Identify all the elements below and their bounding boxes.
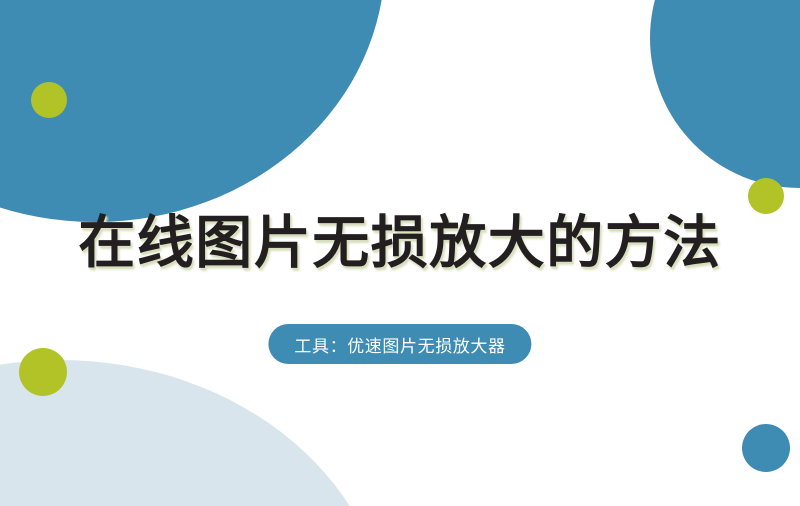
- tool-badge: 工具：优速图片无损放大器: [268, 324, 531, 364]
- slide-content: 在线图片无损放大的方法 工具：优速图片无损放大器: [0, 0, 800, 506]
- page-title: 在线图片无损放大的方法: [0, 210, 800, 277]
- tool-badge-label: 工具：优速图片无损放大器: [294, 332, 505, 357]
- slide-canvas: 在线图片无损放大的方法 工具：优速图片无损放大器: [0, 0, 800, 506]
